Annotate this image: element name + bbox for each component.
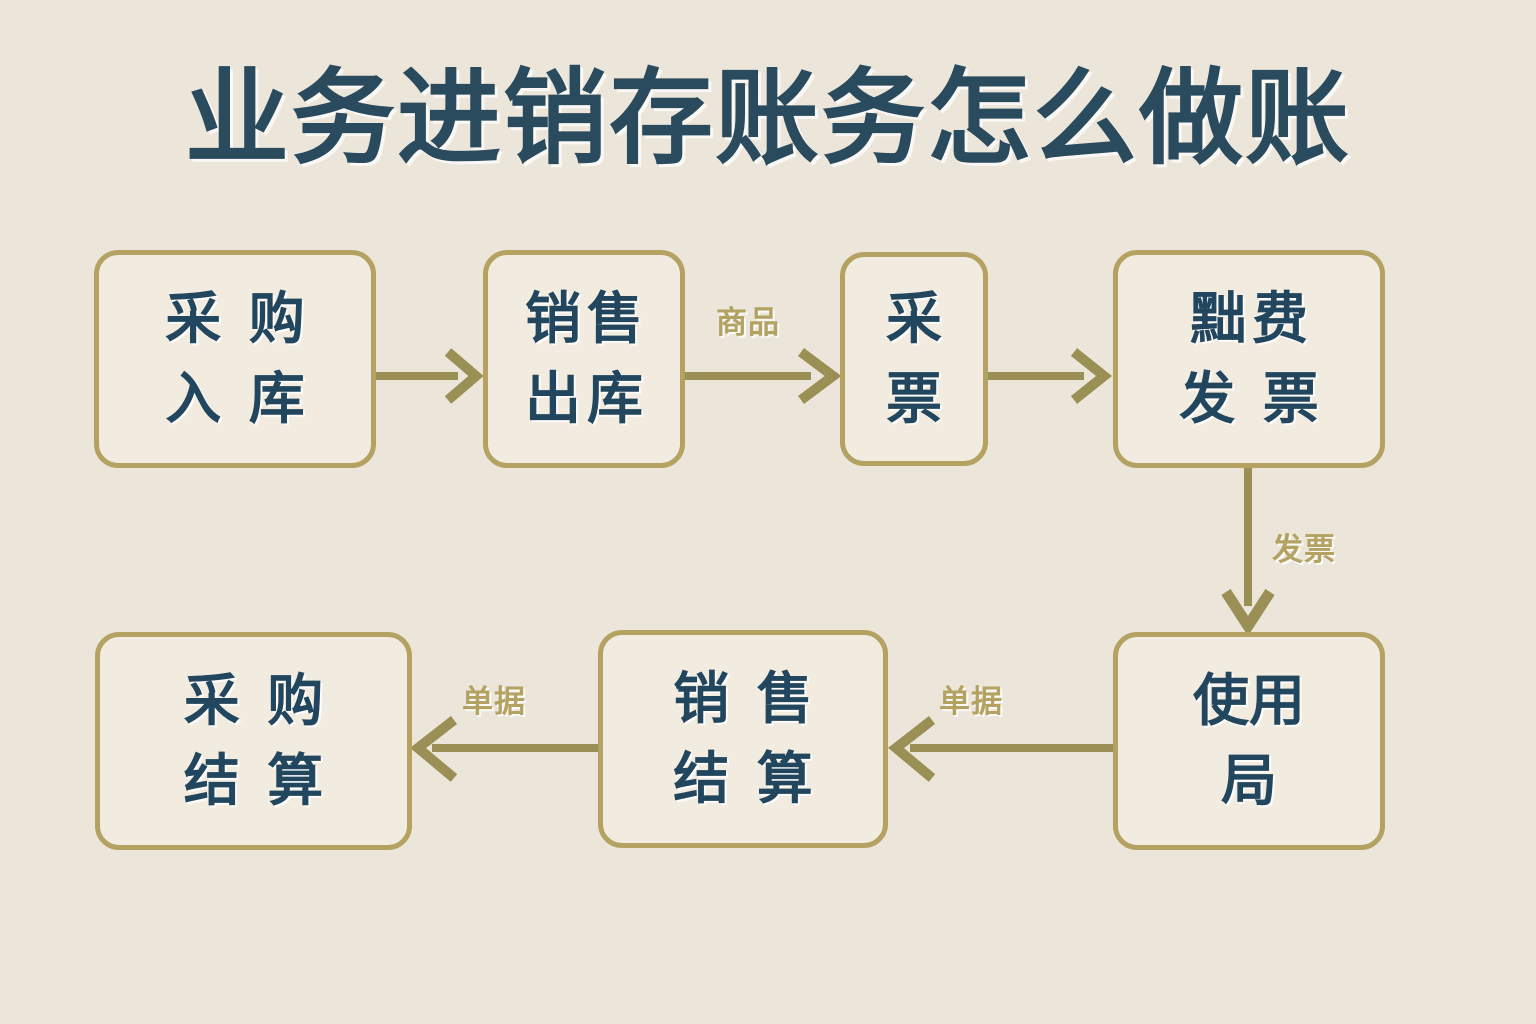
connector-sales-out-to-purchase-ticket <box>685 340 845 410</box>
node-purchase-settlement-line2: 结 算 <box>178 741 330 821</box>
node-purchase-inbound-line1: 采 购 <box>159 279 311 359</box>
node-expense-invoice-line2: 发 票 <box>1173 359 1325 439</box>
connector-purchase-in-to-sales-out <box>376 340 486 410</box>
edge-label-document-right: 单据 <box>939 676 1003 721</box>
node-sales-settlement-line2: 结 算 <box>667 739 819 819</box>
node-tax-bureau-line2: 局 <box>1221 741 1277 821</box>
connector-tax-bureau-to-sales-settlement <box>880 710 1125 790</box>
node-sales-settlement[interactable]: 销 售 结 算 <box>598 630 888 848</box>
page-title: 业务进销存账务怎么做账 <box>0 62 1536 176</box>
node-sales-outbound-line1: 销售 <box>519 279 649 359</box>
node-purchase-inbound-line2: 入 库 <box>159 359 311 439</box>
node-expense-invoice[interactable]: 黜费 发 票 <box>1113 250 1385 468</box>
node-purchase-inbound[interactable]: 采 购 入 库 <box>94 250 376 468</box>
node-purchase-ticket-line2: 票 <box>886 359 942 439</box>
node-purchase-ticket-line1: 采 <box>886 279 942 359</box>
connector-sales-settlement-to-purchase-settlement <box>400 710 610 790</box>
node-sales-outbound[interactable]: 销售 出库 <box>483 250 685 468</box>
node-sales-outbound-line2: 出库 <box>519 359 649 439</box>
connector-purchase-ticket-to-expense-invoice <box>988 340 1118 410</box>
node-purchase-ticket[interactable]: 采 票 <box>840 252 988 466</box>
node-purchase-settlement-line1: 采 购 <box>178 661 330 741</box>
edge-label-invoice: 发票 <box>1272 524 1336 569</box>
node-purchase-settlement[interactable]: 采 购 结 算 <box>95 632 412 850</box>
node-tax-bureau[interactable]: 使用 局 <box>1113 632 1385 850</box>
edge-label-goods: 商品 <box>716 297 780 342</box>
diagram-canvas: 业务进销存账务怎么做账 <box>0 0 1536 1024</box>
node-sales-settlement-line1: 销 售 <box>667 659 819 739</box>
node-tax-bureau-line1: 使用 <box>1193 661 1305 741</box>
edge-label-document-left: 单据 <box>462 676 526 721</box>
node-expense-invoice-line1: 黜费 <box>1184 279 1314 359</box>
